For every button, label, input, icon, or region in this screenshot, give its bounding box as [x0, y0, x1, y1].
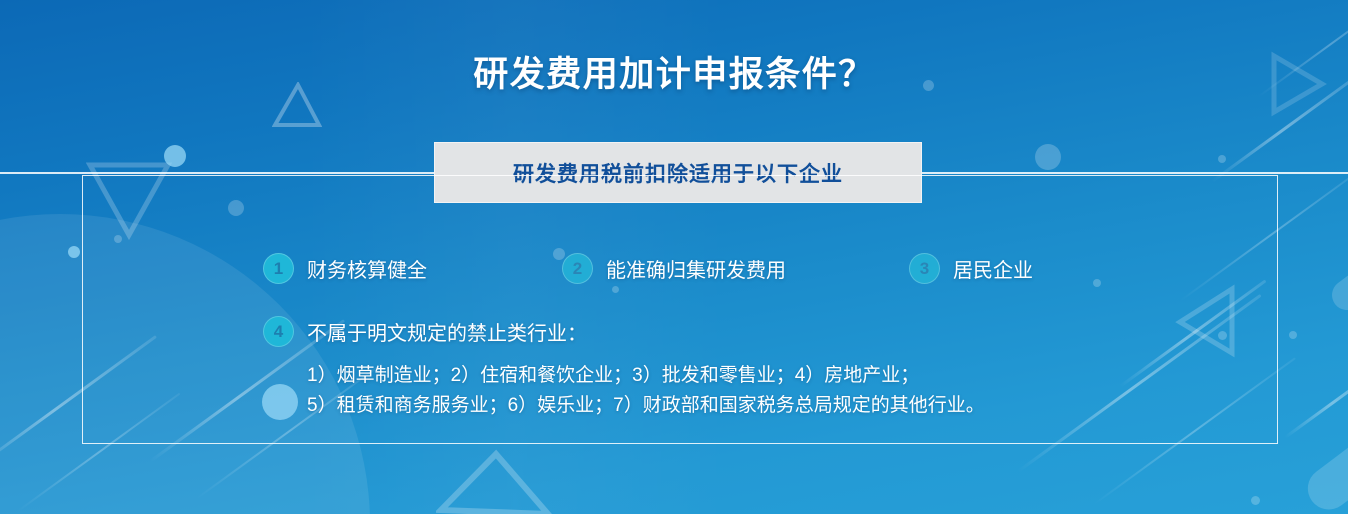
condition-label-3: 居民企业 [953, 254, 1033, 283]
condition-item-4: 4 不属于明文规定的禁止类行业： [263, 316, 587, 347]
condition-badge-3: 3 [909, 253, 940, 284]
dot-decoration [1289, 331, 1297, 339]
banner-rule-right [922, 172, 1348, 174]
condition-label-2: 能准确归集研发费用 [606, 254, 786, 283]
dot-decoration [68, 246, 80, 258]
dot-decoration [1218, 155, 1226, 163]
content-box: 1 财务核算健全 2 能准确归集研发费用 3 居民企业 4 不属于明文规定的禁止… [82, 175, 1278, 444]
dot-decoration [1035, 144, 1061, 170]
triangle-outline-icon-bottom [436, 448, 556, 514]
pill-decoration [1326, 250, 1348, 316]
excluded-industries-line-2: 5）租赁和商务服务业；6）娱乐业；7）财政部和国家税务总局规定的其他行业。 [307, 391, 985, 421]
pill-decoration [1299, 412, 1348, 514]
banner-rule-left [0, 172, 434, 174]
condition-label-4: 不属于明文规定的禁止类行业： [307, 317, 587, 346]
conditions-row-primary: 1 财务核算健全 2 能准确归集研发费用 3 居民企业 [263, 253, 1033, 284]
condition-label-1: 财务核算健全 [307, 254, 427, 283]
condition-badge-1: 1 [263, 253, 294, 284]
condition-item-3: 3 居民企业 [909, 253, 1033, 284]
excluded-industries-line-1: 1）烟草制造业；2）住宿和餐饮企业；3）批发和零售业；4）房地产业； [307, 361, 985, 391]
condition-badge-2: 2 [562, 253, 593, 284]
condition-item-2: 2 能准确归集研发费用 [562, 253, 786, 284]
dot-decoration [164, 145, 186, 167]
conditions-row-secondary: 4 不属于明文规定的禁止类行业： [263, 316, 587, 347]
condition-badge-4: 4 [263, 316, 294, 347]
infographic-banner: 研发费用加计申报条件？ 研发费用税前扣除适用于以下企业 1 财务核算健全 2 能… [0, 0, 1348, 514]
condition-item-1: 1 财务核算健全 [263, 253, 427, 284]
excluded-industries-list: 1）烟草制造业；2）住宿和餐饮企业；3）批发和零售业；4）房地产业； 5）租赁和… [307, 361, 985, 421]
streak-decoration [1284, 360, 1348, 439]
page-title: 研发费用加计申报条件？ [0, 46, 1348, 97]
dot-decoration [1251, 496, 1260, 505]
